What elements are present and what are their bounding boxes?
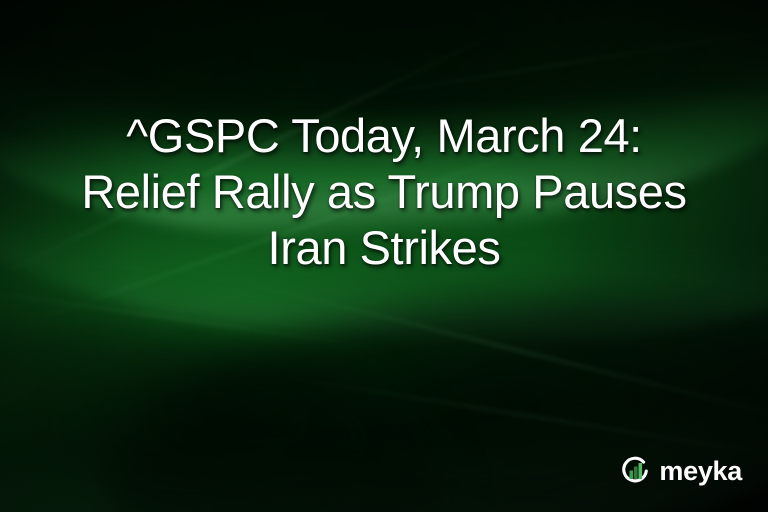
- meyka-wordmark: meyka: [659, 458, 742, 485]
- meyka-logo: meyka: [618, 454, 742, 488]
- background-light-streak: [0, 285, 397, 351]
- background-light-streak: [310, 19, 768, 105]
- banner-headline: ^GSPC Today, March 24: Relief Rally as T…: [0, 108, 768, 276]
- article-banner: ^GSPC Today, March 24: Relief Rally as T…: [0, 0, 768, 512]
- background-light-streak: [240, 280, 768, 438]
- meyka-bar-chart-ring-icon: [618, 454, 652, 488]
- background-shade-bottom-left: [0, 317, 445, 512]
